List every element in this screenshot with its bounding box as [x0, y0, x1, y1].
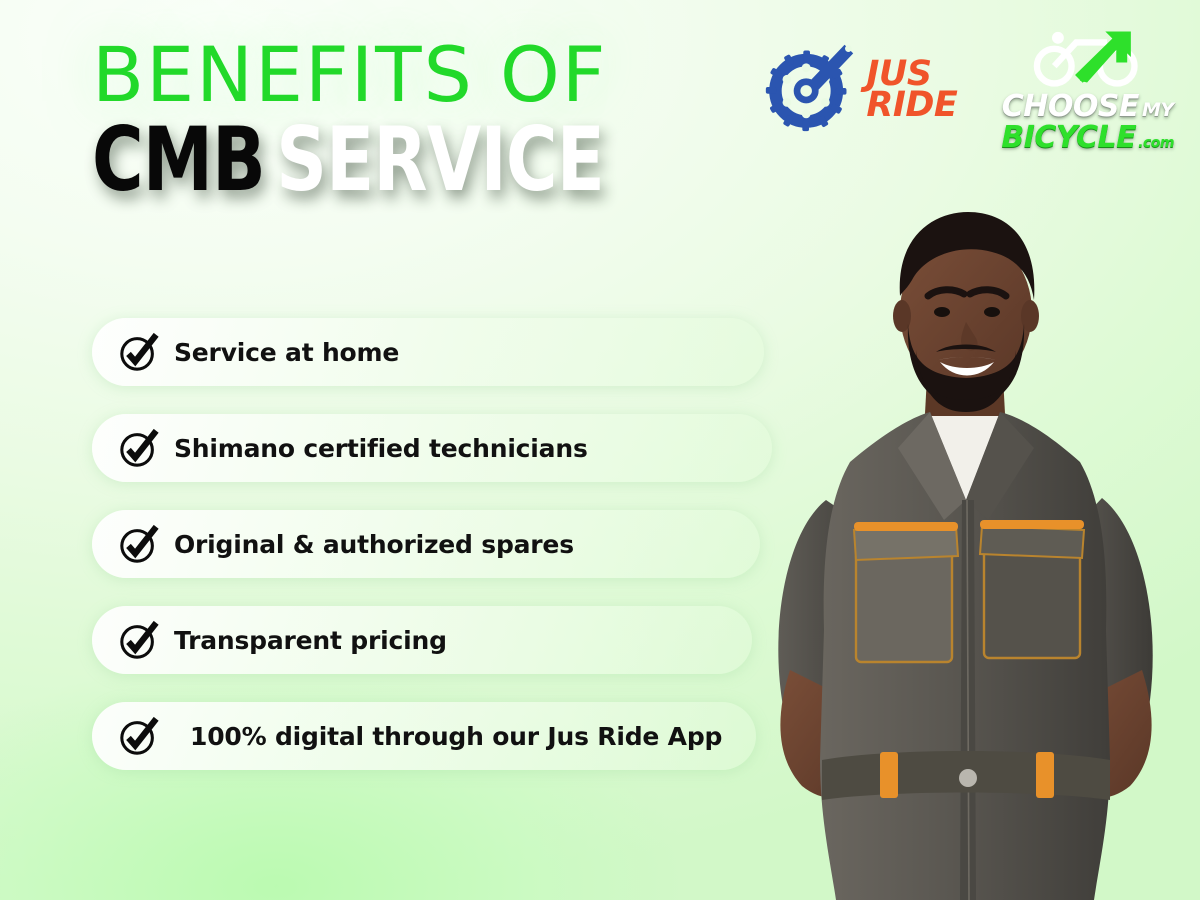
check-circle-icon — [118, 427, 160, 469]
benefit-label: Service at home — [174, 338, 399, 367]
benefit-item-2[interactable]: Shimano certified technicians — [92, 414, 772, 482]
bicycle-arrow-icon — [1028, 26, 1148, 92]
benefit-label: 100% digital through our Jus Ride App — [190, 722, 722, 751]
benefit-label: Original & authorized spares — [174, 530, 574, 559]
benefit-item-4[interactable]: Transparent pricing — [92, 606, 752, 674]
headline-line-2: CMBSERVICE — [92, 118, 604, 202]
headline-block: BENEFITS OF CMBSERVICE — [92, 40, 732, 202]
choosemybicycle-word-bicycle: BICYCLE .com — [1001, 123, 1174, 153]
benefit-item-1[interactable]: Service at home — [92, 318, 764, 386]
cmb-dotcom-text: .com — [1138, 136, 1174, 150]
check-circle-icon — [118, 331, 160, 373]
benefit-item-5[interactable]: 100% digital through our Jus Ride App — [92, 702, 756, 770]
choosemybicycle-word-choose: CHOOSE MY — [1002, 92, 1174, 122]
chainring-crank-icon — [762, 39, 858, 140]
check-circle-icon — [118, 619, 160, 661]
benefits-list: Service at home Shimano certified techni… — [92, 318, 772, 770]
choosemybicycle-logo[interactable]: CHOOSE MY BICYCLE .com — [1001, 26, 1174, 153]
headline-service: SERVICE — [276, 108, 604, 211]
jusride-wordmark: JUS RIDE — [866, 59, 957, 121]
cmb-my-text: MY — [1142, 101, 1174, 120]
technician-photo — [730, 200, 1200, 900]
cmb-bicycle-text: BICYCLE — [1001, 123, 1136, 153]
jusride-line-2: RIDE — [866, 90, 957, 121]
poster-canvas: BENEFITS OF CMBSERVICE — [0, 0, 1200, 900]
cmb-choose-text: CHOOSE — [1002, 92, 1139, 122]
benefit-item-3[interactable]: Original & authorized spares — [92, 510, 760, 578]
jusride-logo[interactable]: JUS RIDE — [762, 39, 957, 140]
check-circle-icon — [118, 523, 160, 565]
headline-line-1: BENEFITS OF — [92, 40, 732, 110]
benefit-label: Transparent pricing — [174, 626, 447, 655]
logo-row: JUS RIDE — [762, 26, 1174, 153]
headline-cmb: CMB — [92, 108, 265, 211]
check-circle-icon — [118, 715, 160, 757]
benefit-label: Shimano certified technicians — [174, 434, 588, 463]
